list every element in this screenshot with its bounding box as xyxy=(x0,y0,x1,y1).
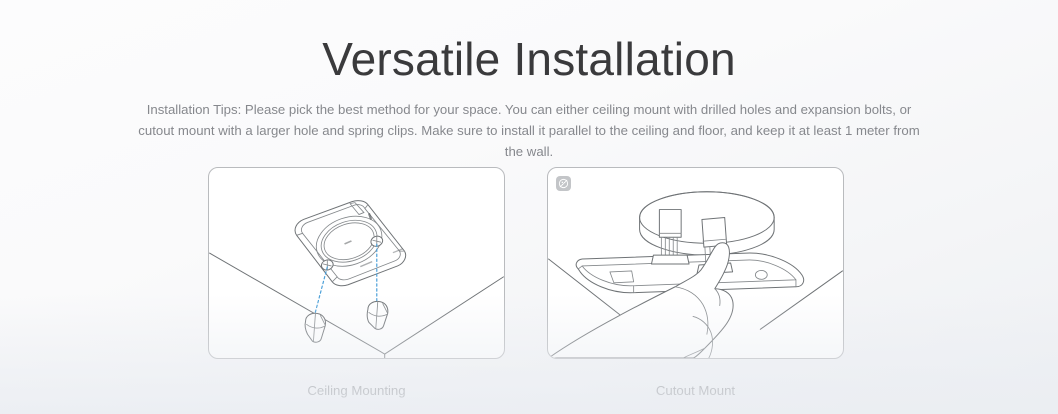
expansion-bolt-right xyxy=(367,301,388,329)
panel-ceiling-mounting[interactable] xyxy=(208,167,505,359)
expansion-bolt-left xyxy=(305,313,325,342)
device-plate xyxy=(295,201,406,286)
page-title: Versatile Installation xyxy=(0,30,1058,88)
cutout-mount-illustration xyxy=(548,168,843,358)
caption-cutout-mount: Cutout Mount xyxy=(547,381,844,401)
image-watermark-badge xyxy=(556,176,571,191)
panel-cutout-mount[interactable] xyxy=(547,167,844,359)
caption-ceiling-mounting: Ceiling Mounting xyxy=(208,381,505,401)
illustration-panels xyxy=(208,167,846,361)
installation-tips-text: Installation Tips: Please pick the best … xyxy=(129,99,929,162)
ceiling-mounting-illustration xyxy=(209,168,504,358)
versatile-installation-section: Versatile Installation Installation Tips… xyxy=(0,0,1058,414)
image-watermark-icon xyxy=(558,178,569,189)
panel-captions: Ceiling Mounting Cutout Mount xyxy=(208,381,846,401)
